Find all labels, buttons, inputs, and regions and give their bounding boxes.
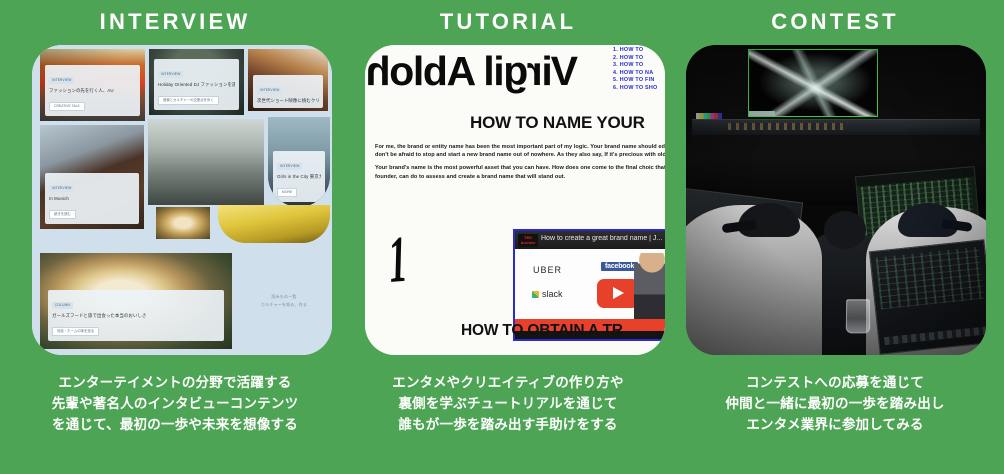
article-paragraph: Your brand's name is the most powerful a… <box>375 164 665 180</box>
slack-logo: slack <box>542 289 563 299</box>
list-item[interactable]: INTERVIEW In Munich 続きを読む <box>40 125 144 229</box>
contest-studio-photo <box>686 45 986 355</box>
card-contest[interactable] <box>686 45 986 355</box>
caption-line: 誰もが一歩を踏み出す手助けをする <box>345 414 671 435</box>
program-monitor <box>748 49 878 117</box>
item-tag: INTERVIEW <box>257 87 282 94</box>
article-masthead: Virgil Abloh <box>367 48 578 95</box>
list-item[interactable] <box>148 119 264 205</box>
article-section-heading-2: HOW TO OBTAIN A TR <box>461 322 623 340</box>
video-title: How to create a great brand name | J... <box>541 235 665 242</box>
column-contest: CONTEST <box>672 0 998 474</box>
toc-item[interactable]: 3. HOW TO <box>613 62 665 70</box>
item-sub: 対談・ホームの味を巡る <box>52 327 99 336</box>
item-info: INTERVIEW In Munich 続きを読む <box>45 173 139 224</box>
item-info: INTERVIEW Holiday Oriented DJ ファッションを語る … <box>154 59 239 110</box>
foreground-laptop <box>869 239 986 355</box>
interview-grid-screenshot: INTERVIEW ファッションの先を行く人、AU CREATIVE TALK … <box>32 45 332 355</box>
item-info: INTERVIEW Girls in the City 東京カルチャー探訪 MO… <box>273 151 325 202</box>
list-item[interactable]: INTERVIEW Girls in the City 東京カルチャー探訪 MO… <box>268 117 330 207</box>
toc-item[interactable]: 5. HOW TO FIN <box>613 77 665 85</box>
caption-tutorial: エンタメやクリエイティブの作り方や 裏側を学ぶチュートリアルを通じて 誰もが一歩… <box>345 372 671 435</box>
youtube-play-icon <box>597 279 639 308</box>
caption-contest: コンテストへの応募を通じて 仲間と一緒に最初の一歩を踏み出し エンタメ業界に参加… <box>672 372 998 435</box>
caption-line: 先輩や著名人のインタビューコンテンツ <box>12 393 338 414</box>
caption-line: エンタメ業界に参加してみる <box>672 414 998 435</box>
heading-contest: CONTEST <box>672 8 998 36</box>
item-title: Holiday Oriented DJ ファッションを語る <box>158 82 235 88</box>
item-tag: INTERVIEW <box>158 71 183 78</box>
speaker-figure <box>634 253 665 327</box>
uber-logo: UBER <box>533 265 562 275</box>
article-step-numeral: 1 <box>387 234 409 288</box>
column-interview: INTERVIEW INTERVIEW ファッションの先を行く人、AU CREA… <box>12 0 338 474</box>
article-body: For me, the brand or entity name has bee… <box>375 143 665 186</box>
item-info: INTERVIEW 次世代ショート映像に挑むクリエイター <box>253 75 323 108</box>
promo-board: INTERVIEW INTERVIEW ファッションの先を行く人、AU CREA… <box>0 0 1004 474</box>
item-title: 次世代ショート映像に挑むクリエイター <box>257 98 319 104</box>
caption-interview: エンターテイメントの分野で活躍する 先輩や著名人のインタビューコンテンツ を通じ… <box>12 372 338 435</box>
monitor-label-bar <box>749 111 775 116</box>
article-table-of-contents[interactable]: 1. HOW TO 2. HOW TO 3. HOW TO 4. HOW TO … <box>613 47 665 93</box>
toc-item[interactable]: 4. HOW TO NA <box>613 70 665 78</box>
caption-line: コンテストへの応募を通じて <box>672 372 998 393</box>
item-tag: INTERVIEW <box>49 77 74 84</box>
item-tag: COLUMN <box>52 302 73 309</box>
toc-item[interactable]: 2. HOW TO <box>613 55 665 63</box>
caption-line: 裏側を学ぶチュートリアルを通じて <box>345 393 671 414</box>
list-item[interactable]: COLUMN ガールズフードと旅で出会った本当のおいしさ 対談・ホームの味を巡る <box>40 253 232 349</box>
plastic-cup <box>846 299 871 333</box>
item-sub: CREATIVE TALK <box>49 102 85 111</box>
list-item[interactable] <box>156 207 210 239</box>
light-trails-graphic <box>749 50 877 116</box>
caption-line: エンタメやクリエイティブの作り方や <box>345 372 671 393</box>
item-title: In Munich <box>49 196 135 202</box>
article-section-heading: HOW TO NAME YOUR <box>470 113 645 133</box>
sidenote-line-1: 読みもの一覧 <box>244 293 324 300</box>
item-sub: MORE <box>277 188 297 197</box>
sidenote-line-2: カルチャーを知る、作る <box>238 301 330 308</box>
caption-line: エンターテイメントの分野で活躍する <box>12 372 338 393</box>
facebook-logo: facebook <box>601 262 638 271</box>
thumbnail-image <box>218 205 330 243</box>
item-title: ガールズフードと旅で出会った本当のおいしさ <box>52 313 220 319</box>
person-center-head <box>824 211 866 249</box>
card-interview[interactable]: INTERVIEW ファッションの先を行く人、AU CREATIVE TALK … <box>32 45 332 355</box>
list-item[interactable]: INTERVIEW ファッションの先を行く人、AU CREATIVE TALK <box>40 49 145 121</box>
item-title: Girls in the City 東京カルチャー探訪 <box>277 174 321 180</box>
heading-tutorial: TUTORIAL <box>345 8 671 36</box>
card-tutorial[interactable]: Virgil Abloh 1. HOW TO 2. HOW TO 3. HOW … <box>365 45 665 355</box>
caption-line: 仲間と一緒に最初の一歩を踏み出し <box>672 393 998 414</box>
list-item[interactable] <box>218 205 330 243</box>
item-sub: 続きを読む <box>49 210 76 219</box>
column-tutorial: TUTORIAL Virgil Abloh 1. HOW TO 2. HOW T… <box>345 0 671 474</box>
slack-icon <box>532 291 539 298</box>
item-tag: INTERVIEW <box>49 185 74 192</box>
toc-item[interactable]: 1. HOW TO <box>613 47 665 55</box>
tutorial-article-screenshot: Virgil Abloh 1. HOW TO 2. HOW TO 3. HOW … <box>365 45 665 355</box>
item-sub: 音楽とカルチャーの交差点を歩く <box>158 96 219 105</box>
list-item[interactable]: INTERVIEW 次世代ショート映像に挑むクリエイター <box>248 49 328 111</box>
item-tag: INTERVIEW <box>277 163 302 170</box>
thumbnail-image <box>156 207 210 239</box>
item-info: COLUMN ガールズフードと旅で出会った本当のおいしさ 対談・ホームの味を巡る <box>48 290 224 341</box>
article-paragraph: For me, the brand or entity name has bee… <box>375 143 665 159</box>
video-source-badge: TED Archive <box>518 234 538 247</box>
thumbnail-image <box>148 119 264 205</box>
caption-line: を通じて、最初の一歩や未来を想像する <box>12 414 338 435</box>
item-info: INTERVIEW ファッションの先を行く人、AU CREATIVE TALK <box>45 65 140 116</box>
heading-interview: INTERVIEW <box>12 8 338 36</box>
toc-item[interactable]: 6. HOW TO SHO <box>613 85 665 93</box>
console-knobs <box>728 123 846 130</box>
list-item[interactable]: INTERVIEW Holiday Oriented DJ ファッションを語る … <box>149 49 244 115</box>
item-title: ファッションの先を行く人、AU <box>49 88 136 94</box>
